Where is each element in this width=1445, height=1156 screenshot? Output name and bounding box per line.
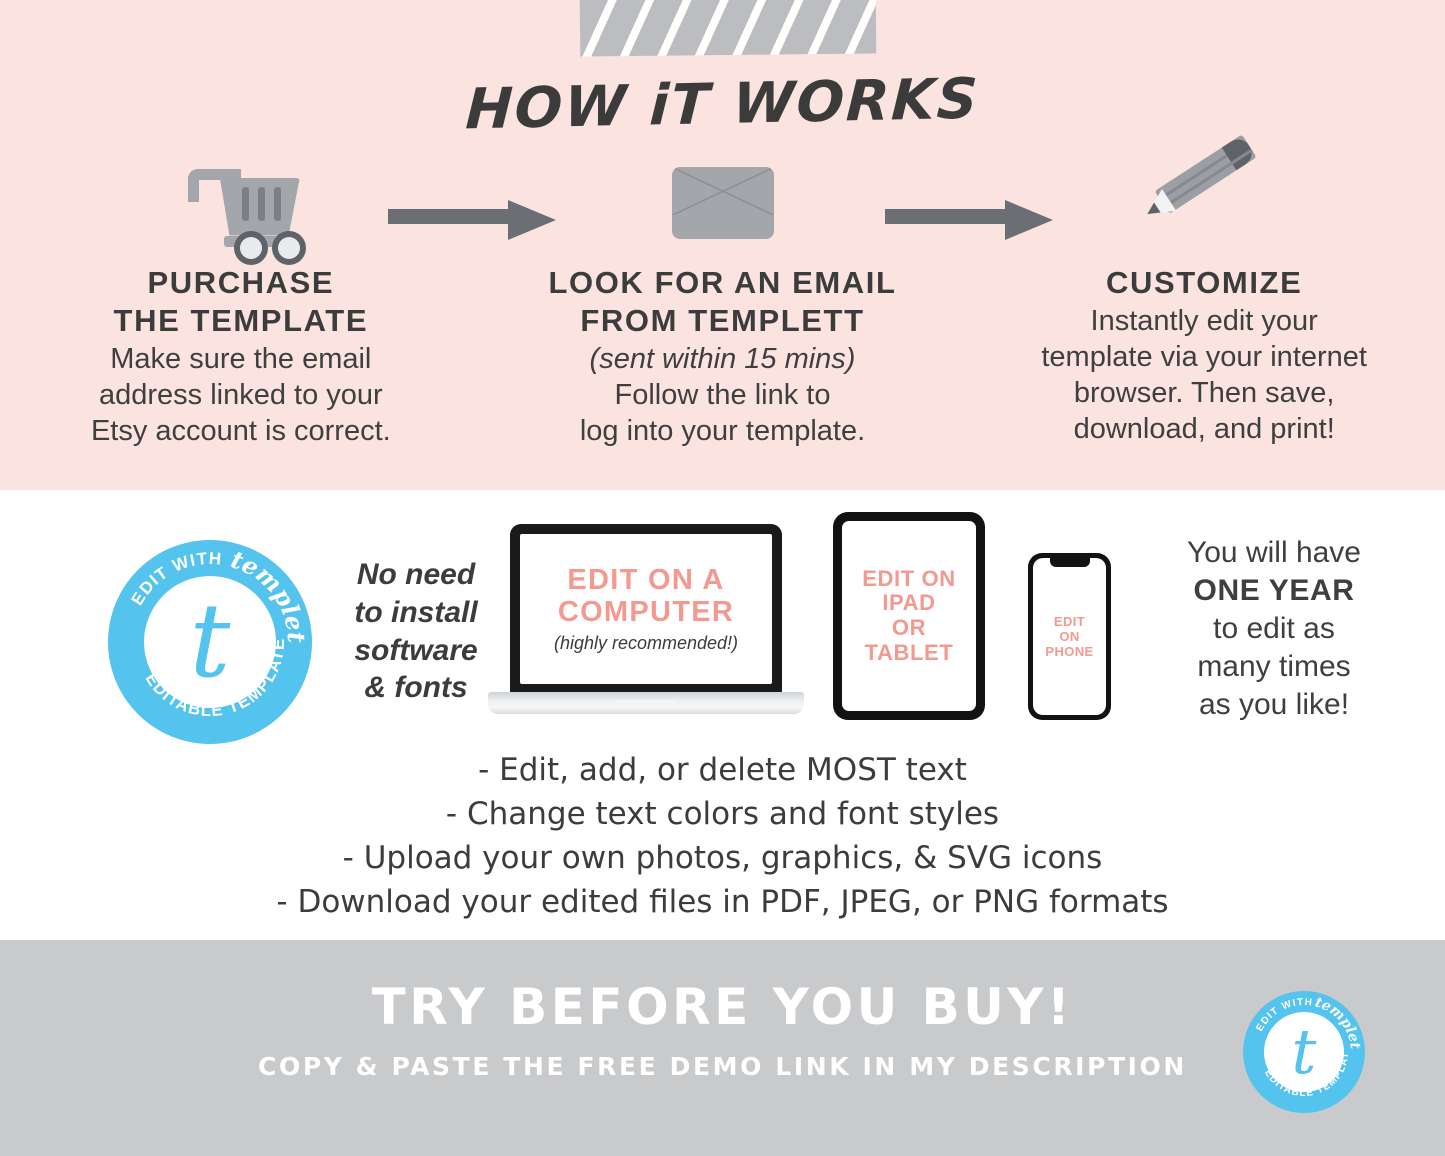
step-1-body: Make sure the email address linked to yo… xyxy=(91,342,391,450)
phone-screen: EDIT ON PHONE xyxy=(1033,558,1106,715)
step-3-body: Instantly edit your template via your in… xyxy=(1041,304,1367,448)
step-purchase: PURCHASE THE TEMPLATE Make sure the emai… xyxy=(0,145,482,449)
try-before-you-buy-footer: TRY BEFORE YOU BUY! COPY & PASTE THE FRE… xyxy=(0,940,1445,1156)
step-3-heading: CUSTOMIZE xyxy=(1106,264,1302,302)
list-item: - Edit, add, or delete MOST text xyxy=(0,748,1445,792)
list-item: - Change text colors and font styles xyxy=(0,792,1445,836)
shopping-cart-icon xyxy=(182,145,300,260)
feature-list: - Edit, add, or delete MOST text - Chang… xyxy=(0,748,1445,924)
envelope-icon xyxy=(672,145,774,260)
svg-text:EDIT WITH: EDIT WITH xyxy=(127,549,223,609)
pencil-icon xyxy=(1138,145,1270,260)
laptop-mockup: EDIT ON A COMPUTER (highly recommended!) xyxy=(488,524,804,724)
one-year-highlight: ONE YEAR xyxy=(1194,574,1355,607)
laptop-trackpad-notch xyxy=(616,700,676,708)
how-it-works-infographic: HOW iT WORKS xyxy=(0,0,1445,1156)
tablet-title: EDIT ON IPAD OR TABLET xyxy=(862,567,955,666)
svg-text:EDIT WITH: EDIT WITH xyxy=(1254,997,1313,1034)
svg-text:EDITABLE TEMPLATE: EDITABLE TEMPLATE xyxy=(142,637,289,720)
list-item: - Download your edited files in PDF, JPE… xyxy=(0,880,1445,924)
washi-tape-icon xyxy=(580,0,877,57)
no-need-text: No need to install software & fonts xyxy=(330,556,502,707)
badge-arc-top: EDIT WITH xyxy=(1254,997,1313,1034)
tablet-screen: EDIT ON IPAD OR TABLET xyxy=(842,521,976,711)
phone-notch-icon xyxy=(1050,558,1090,567)
templett-badge: EDIT WITH templett EDITABLE TEMPLATE t xyxy=(108,540,312,744)
step-look-for-email: LOOK FOR AN EMAIL FROM TEMPLETT (sent wi… xyxy=(482,145,964,449)
page-title: HOW iT WORKS xyxy=(0,57,1445,152)
footer-title: TRY BEFORE YOU BUY! xyxy=(0,978,1445,1036)
badge-arc-top: EDIT WITH xyxy=(127,549,223,609)
tablet-mockup: EDIT ON IPAD OR TABLET xyxy=(833,512,985,720)
list-item: - Upload your own photos, graphics, & SV… xyxy=(0,836,1445,880)
laptop-subtitle: (highly recommended!) xyxy=(554,633,738,654)
step-2-body: (sent within 15 mins) Follow the link to… xyxy=(580,342,865,450)
step-1-heading: PURCHASE THE TEMPLATE xyxy=(114,264,369,340)
footer-subtitle: COPY & PASTE THE FREE DEMO LINK IN MY DE… xyxy=(0,1052,1445,1081)
phone-title: EDIT ON PHONE xyxy=(1045,614,1093,659)
templett-badge-footer: EDIT WITH templett EDITABLE TEMPLATE t xyxy=(1243,991,1365,1113)
badge-arc-bottom: EDITABLE TEMPLATE xyxy=(142,637,289,720)
steps-row: PURCHASE THE TEMPLATE Make sure the emai… xyxy=(0,145,1445,449)
laptop-title: EDIT ON A COMPUTER xyxy=(558,564,734,629)
phone-mockup: EDIT ON PHONE xyxy=(1028,553,1111,720)
one-year-text: You will have ONE YEAR to edit as many t… xyxy=(1124,534,1424,724)
step-2-heading: LOOK FOR AN EMAIL FROM TEMPLETT xyxy=(548,264,896,340)
step-customize: CUSTOMIZE Instantly edit your template v… xyxy=(963,145,1445,449)
how-it-works-section: HOW iT WORKS xyxy=(0,0,1445,490)
laptop-screen: EDIT ON A COMPUTER (highly recommended!) xyxy=(520,534,772,684)
